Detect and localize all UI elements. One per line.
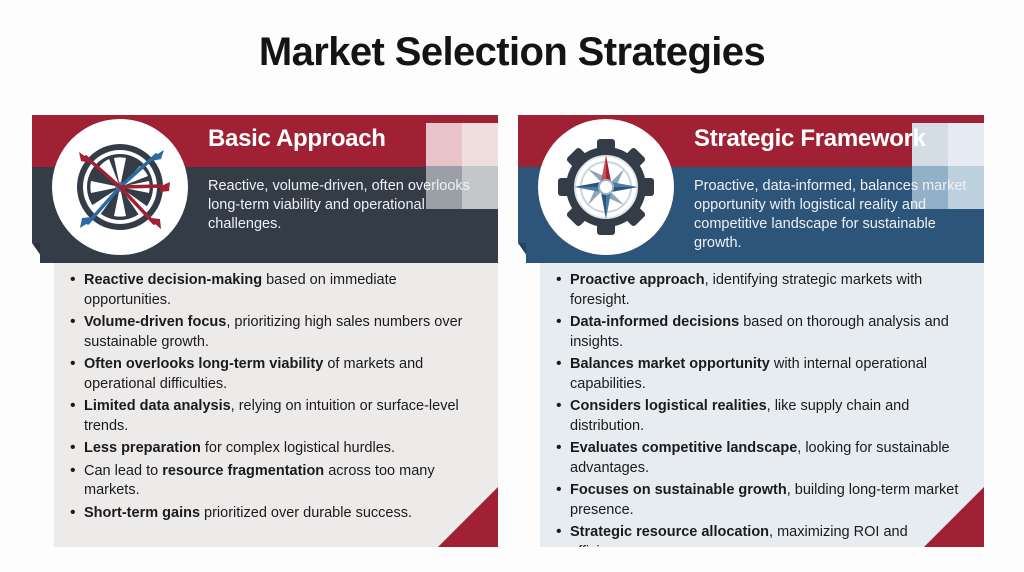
card-title: Basic Approach xyxy=(208,125,386,153)
infographic-poster: Market Selection Strategies Basic Approa… xyxy=(0,0,1024,572)
card-subtitle: Proactive, data-informed, balances marke… xyxy=(694,177,982,253)
corner-accent-triangle xyxy=(924,487,984,547)
bullet-list: Proactive approach, identifying strategi… xyxy=(540,259,984,547)
list-item: Short-term gains prioritized over durabl… xyxy=(84,504,480,524)
gear-compass-icon xyxy=(538,119,674,255)
list-item: Focuses on sustainable growth, building … xyxy=(570,481,966,520)
corner-accent-triangle xyxy=(438,487,498,547)
card-body: Proactive approach, identifying strategi… xyxy=(540,259,984,547)
list-item: Often overlooks long-term viability of m… xyxy=(84,355,480,394)
bullet-list: Reactive decision-making based on immedi… xyxy=(54,259,498,523)
list-item: Limited data analysis, relying on intuit… xyxy=(84,397,480,436)
list-item: Can lead to resource fragmentation acros… xyxy=(84,462,480,501)
list-item: Strategic resource allocation, maximizin… xyxy=(570,523,966,547)
card-header: Basic Approach Reactive, volume-driven, … xyxy=(40,115,498,263)
card-body: Reactive decision-making based on immedi… xyxy=(54,259,498,547)
list-item: Data-informed decisions based on thoroug… xyxy=(570,313,966,352)
list-item: Less preparation for complex logistical … xyxy=(84,439,480,459)
list-item: Balances market opportunity with interna… xyxy=(570,355,966,394)
list-item: Reactive decision-making based on immedi… xyxy=(84,271,480,310)
list-item: Considers logistical realities, like sup… xyxy=(570,397,966,436)
dartboard-with-darts-icon xyxy=(52,119,188,255)
list-item: Proactive approach, identifying strategi… xyxy=(570,271,966,310)
card-subtitle: Reactive, volume-driven, often overlooks… xyxy=(208,177,486,234)
list-item: Evaluates competitive landscape, looking… xyxy=(570,439,966,478)
page-title: Market Selection Strategies xyxy=(0,30,1024,75)
list-item: Volume-driven focus, prioritizing high s… xyxy=(84,313,480,352)
card-title: Strategic Framework xyxy=(694,125,926,153)
card-basic-approach: Basic Approach Reactive, volume-driven, … xyxy=(32,107,498,547)
card-strategic-framework: Strategic Framework Proactive, data-info… xyxy=(518,107,984,547)
card-header: Strategic Framework Proactive, data-info… xyxy=(526,115,984,263)
